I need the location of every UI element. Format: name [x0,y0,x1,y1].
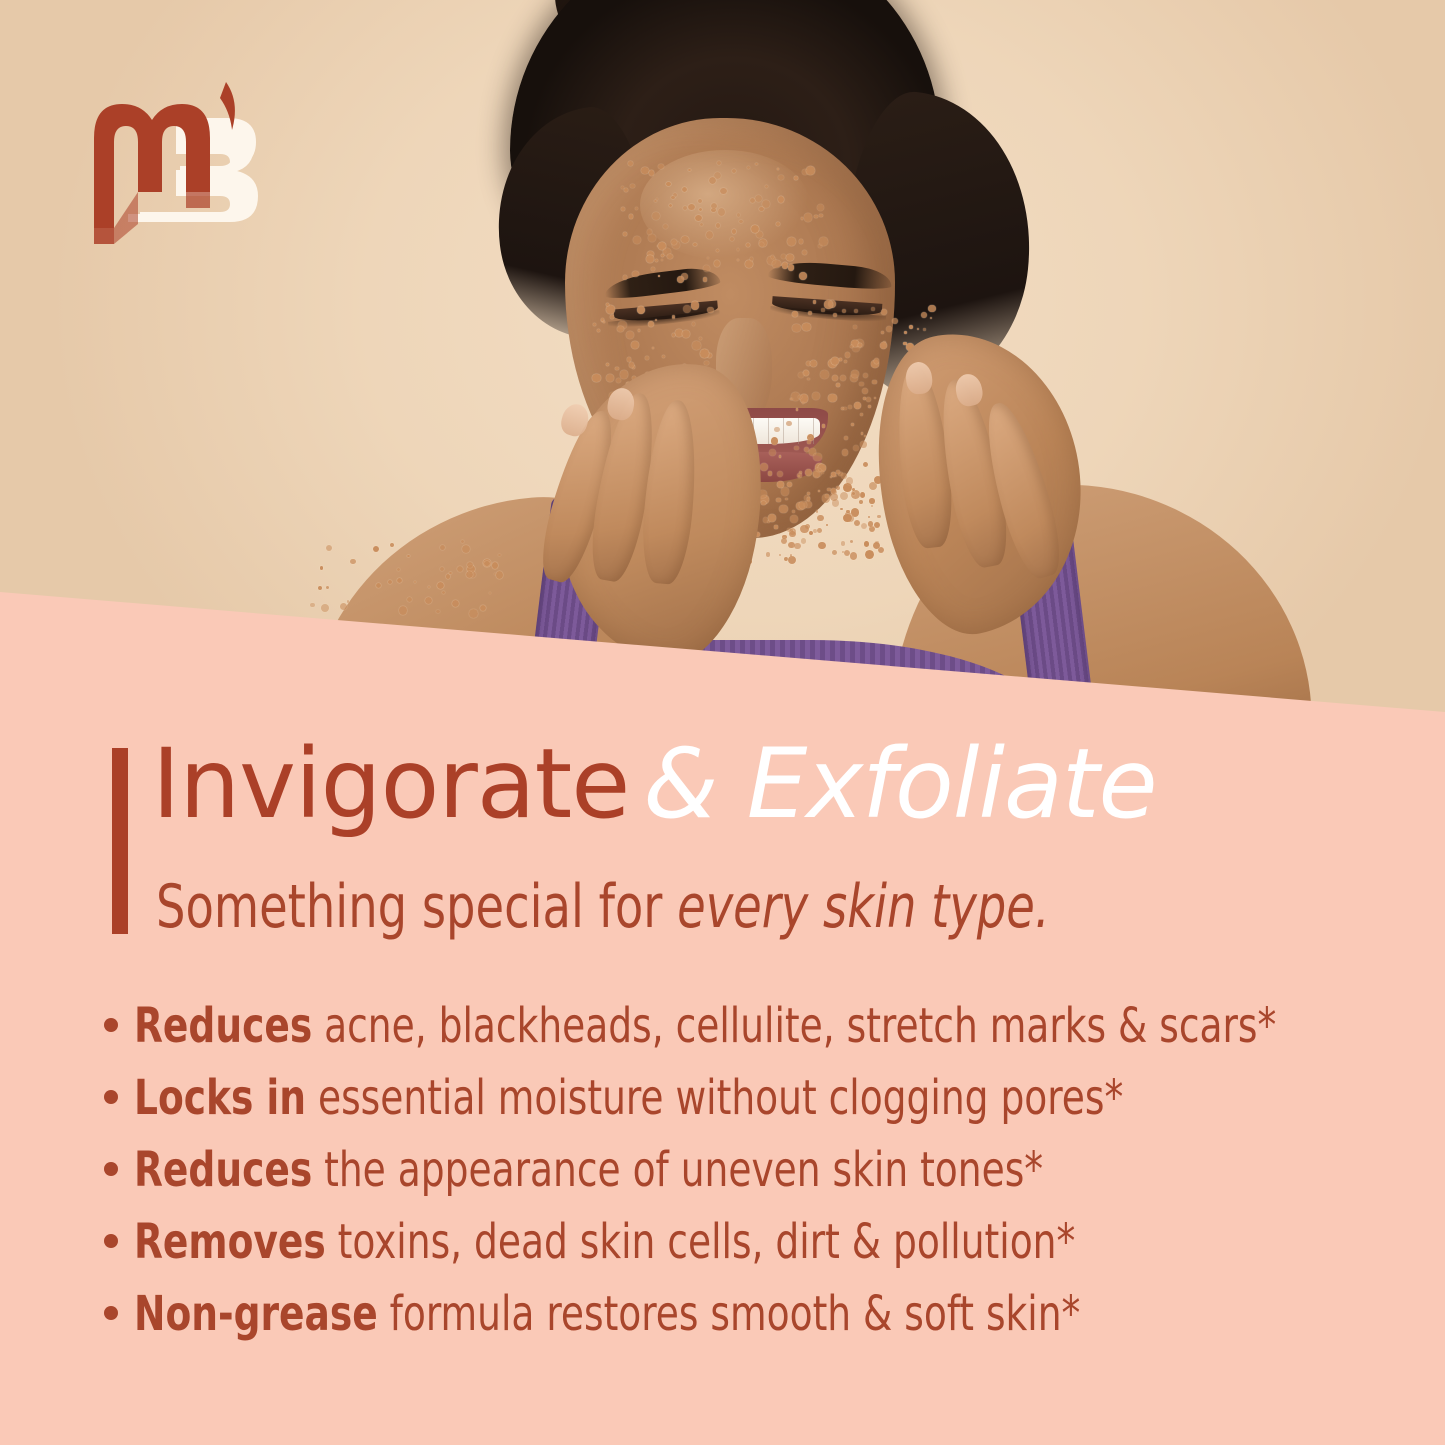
list-item-detail: the appearance of uneven skin tones* [312,1142,1043,1198]
mb-monogram-logo[interactable] [80,72,260,262]
list-item: Non-grease formula restores smooth & sof… [104,1286,1404,1358]
list-item-keyword: Non-grease [134,1286,378,1342]
list-item-detail: toxins, dead skin cells, dirt & pollutio… [326,1214,1076,1270]
bullet-dot-icon [104,1162,118,1176]
subtitle-emphasis: every skin type. [677,872,1049,942]
list-item-detail: essential moisture without clogging pore… [306,1070,1123,1126]
bullet-dot-icon [104,1090,118,1104]
list-item-label: Reduces acne, blackheads, cellulite, str… [134,998,1276,1054]
list-item-label: Non-grease formula restores smooth & sof… [134,1286,1080,1342]
forehead-highlight [640,150,810,260]
list-item: Locks in essential moisture without clog… [104,1070,1404,1142]
page-subtitle: Something special for every skin type. [156,872,1050,942]
subtitle-prefix: Something special for [156,872,677,942]
bullet-dot-icon [104,1234,118,1248]
list-item-label: Locks in essential moisture without clog… [134,1070,1123,1126]
list-item: Removes toxins, dead skin cells, dirt & … [104,1214,1404,1286]
list-item-detail: acne, blackheads, cellulite, stretch mar… [312,998,1276,1054]
product-benefits-banner: Invigorate& Exfoliate Something special … [0,0,1445,1445]
headline-part-primary: Invigorate [152,728,629,840]
benefits-list: Reduces acne, blackheads, cellulite, str… [104,998,1404,1358]
list-item: Reduces the appearance of uneven skin to… [104,1142,1404,1214]
list-item-label: Removes toxins, dead skin cells, dirt & … [134,1214,1075,1270]
list-item-keyword: Reduces [134,998,312,1054]
bullet-dot-icon [104,1306,118,1320]
page-title: Invigorate& Exfoliate [152,736,1157,832]
headline-accent-bar [112,748,128,934]
list-item-label: Reduces the appearance of uneven skin to… [134,1142,1043,1198]
headline-part-secondary: & Exfoliate [643,728,1156,840]
list-item-keyword: Locks in [134,1070,306,1126]
list-item-keyword: Reduces [134,1142,312,1198]
bullet-dot-icon [104,1018,118,1032]
list-item-detail: formula restores smooth & soft skin* [378,1286,1081,1342]
list-item: Reduces acne, blackheads, cellulite, str… [104,998,1404,1070]
list-item-keyword: Removes [134,1214,326,1270]
